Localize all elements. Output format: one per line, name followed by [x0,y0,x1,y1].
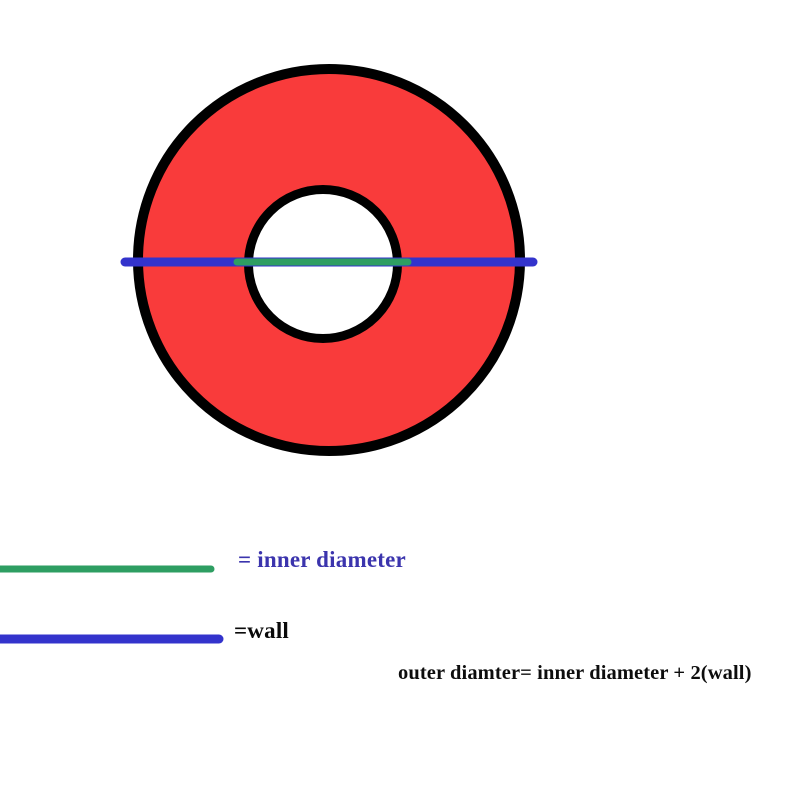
legend-label-wall: =wall [234,618,289,644]
formula-caption: outer diamter= inner diameter + 2(wall) [398,662,752,685]
legend: = inner diameter =wall [0,520,800,800]
legend-label-inner-diameter: = inner diameter [238,547,406,573]
legend-swatch-wall [0,632,230,646]
annulus-figure [0,0,800,520]
legend-swatch-inner-diameter [0,562,230,576]
legend-item-inner-diameter: = inner diameter [0,544,800,590]
diagram-canvas: = inner diameter =wall outer diamter= in… [0,0,800,800]
legend-item-wall: =wall [0,614,800,660]
